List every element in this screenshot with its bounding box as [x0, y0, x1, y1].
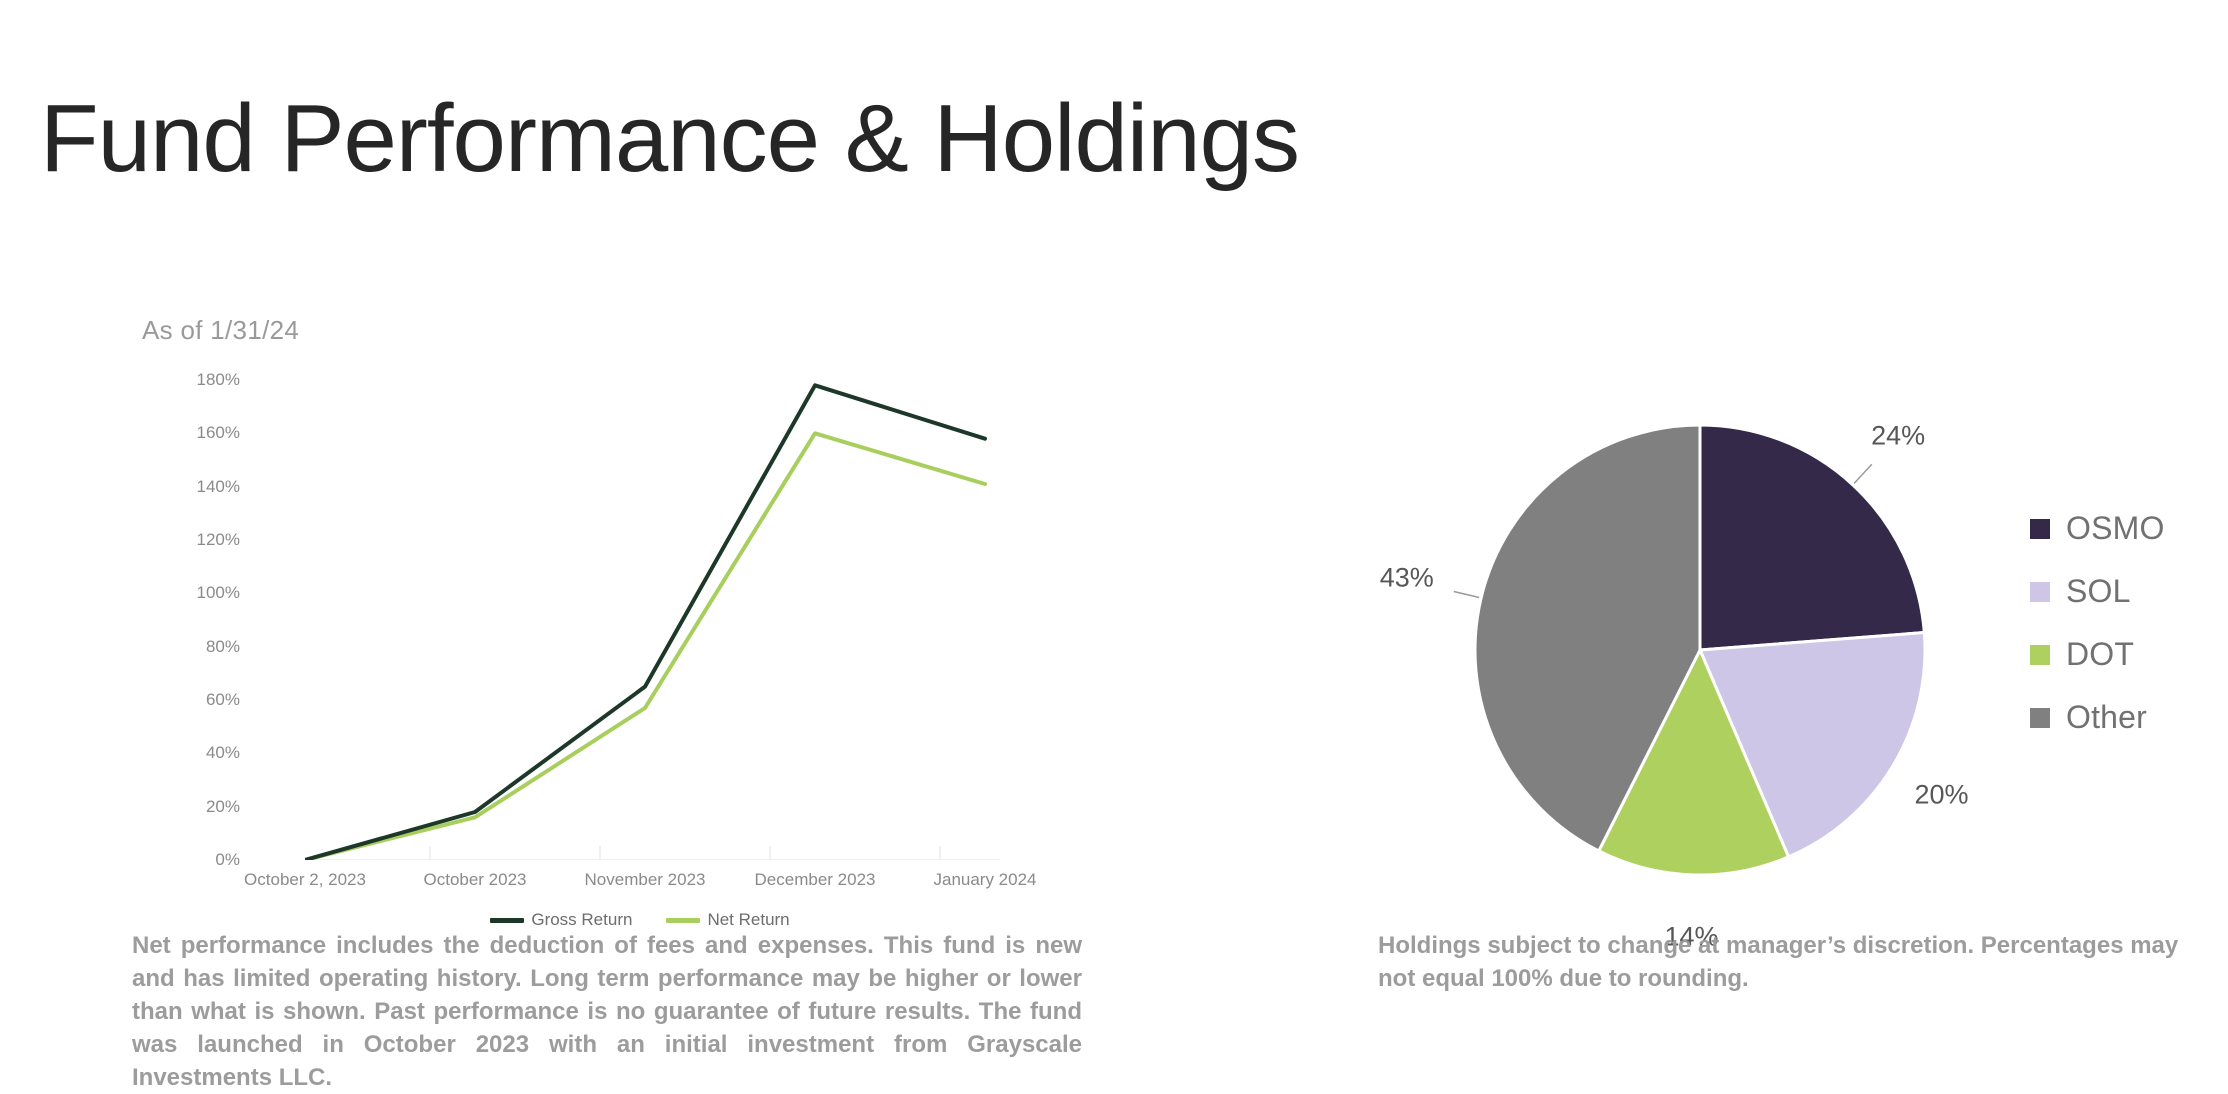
legend-line-swatch	[666, 918, 700, 923]
x-axis: October 2, 2023October 2023November 2023…	[290, 870, 1050, 900]
pie-legend-swatch	[2030, 645, 2050, 665]
holdings-chart-panel: 24%20%14%43% OSMOSOLDOTOther	[1380, 390, 2200, 910]
pie-legend-swatch	[2030, 519, 2050, 539]
y-axis-tick-label: 60%	[150, 690, 240, 710]
pie-legend-label: SOL	[2066, 573, 2131, 610]
pie-leader-line	[1454, 592, 1479, 598]
x-axis-tick-label: November 2023	[585, 870, 706, 890]
y-axis-tick-label: 180%	[150, 370, 240, 390]
line-series-gross-return	[305, 385, 985, 860]
x-axis-tick-label: October 2023	[423, 870, 526, 890]
y-axis-tick-label: 80%	[150, 637, 240, 657]
y-axis: 0%20%40%60%80%100%120%140%160%180%	[130, 380, 240, 860]
legend-label: Net Return	[707, 910, 789, 930]
x-axis-tick-label: January 2024	[933, 870, 1036, 890]
y-axis-tick-label: 100%	[150, 583, 240, 603]
performance-chart-panel: As of 1/31/24 0%20%40%60%80%100%120%140%…	[130, 315, 1150, 915]
y-axis-tick-label: 40%	[150, 743, 240, 763]
line-chart-svg	[305, 380, 1015, 860]
pie-legend-swatch	[2030, 708, 2050, 728]
pie-legend-item-other[interactable]: Other	[2030, 699, 2165, 736]
x-axis-tick-label: December 2023	[755, 870, 876, 890]
page-title: Fund Performance & Holdings	[40, 84, 1299, 194]
line-series-net-return	[305, 433, 985, 860]
pie-value-label-osmo: 24%	[1871, 421, 1925, 452]
pie-value-label-other: 43%	[1380, 562, 1434, 593]
line-chart: 0%20%40%60%80%100%120%140%160%180%	[130, 380, 1150, 860]
y-axis-tick-label: 140%	[150, 477, 240, 497]
pie-legend-swatch	[2030, 582, 2050, 602]
line-plot-area	[305, 380, 1015, 860]
legend-item-gross-return[interactable]: Gross Return	[490, 910, 632, 930]
y-axis-tick-label: 160%	[150, 423, 240, 443]
performance-footnote: Net performance includes the deduction o…	[132, 930, 1082, 1094]
pie-value-label-sol: 20%	[1915, 780, 1969, 811]
pie-legend-label: DOT	[2066, 636, 2134, 673]
legend-label: Gross Return	[531, 910, 632, 930]
pie-chart-svg	[1380, 390, 2040, 890]
as-of-label: As of 1/31/24	[142, 315, 299, 346]
pie-slice-osmo[interactable]	[1700, 425, 1924, 650]
x-axis-tick-label: October 2, 2023	[244, 870, 366, 890]
holdings-footnote: Holdings subject to change at manager’s …	[1378, 930, 2188, 996]
pie-legend-label: OSMO	[2066, 510, 2165, 547]
pie-leader-line	[1854, 464, 1872, 483]
pie-legend-item-sol[interactable]: SOL	[2030, 573, 2165, 610]
pie-legend-label: Other	[2066, 699, 2147, 736]
pie-legend-item-osmo[interactable]: OSMO	[2030, 510, 2165, 547]
pie-legend-item-dot[interactable]: DOT	[2030, 636, 2165, 673]
legend-item-net-return[interactable]: Net Return	[666, 910, 789, 930]
y-axis-tick-label: 20%	[150, 797, 240, 817]
pie-chart-legend: OSMOSOLDOTOther	[2030, 510, 2165, 736]
y-axis-tick-label: 0%	[150, 850, 240, 870]
legend-line-swatch	[490, 918, 524, 923]
line-chart-legend: Gross ReturnNet Return	[130, 910, 1150, 930]
y-axis-tick-label: 120%	[150, 530, 240, 550]
